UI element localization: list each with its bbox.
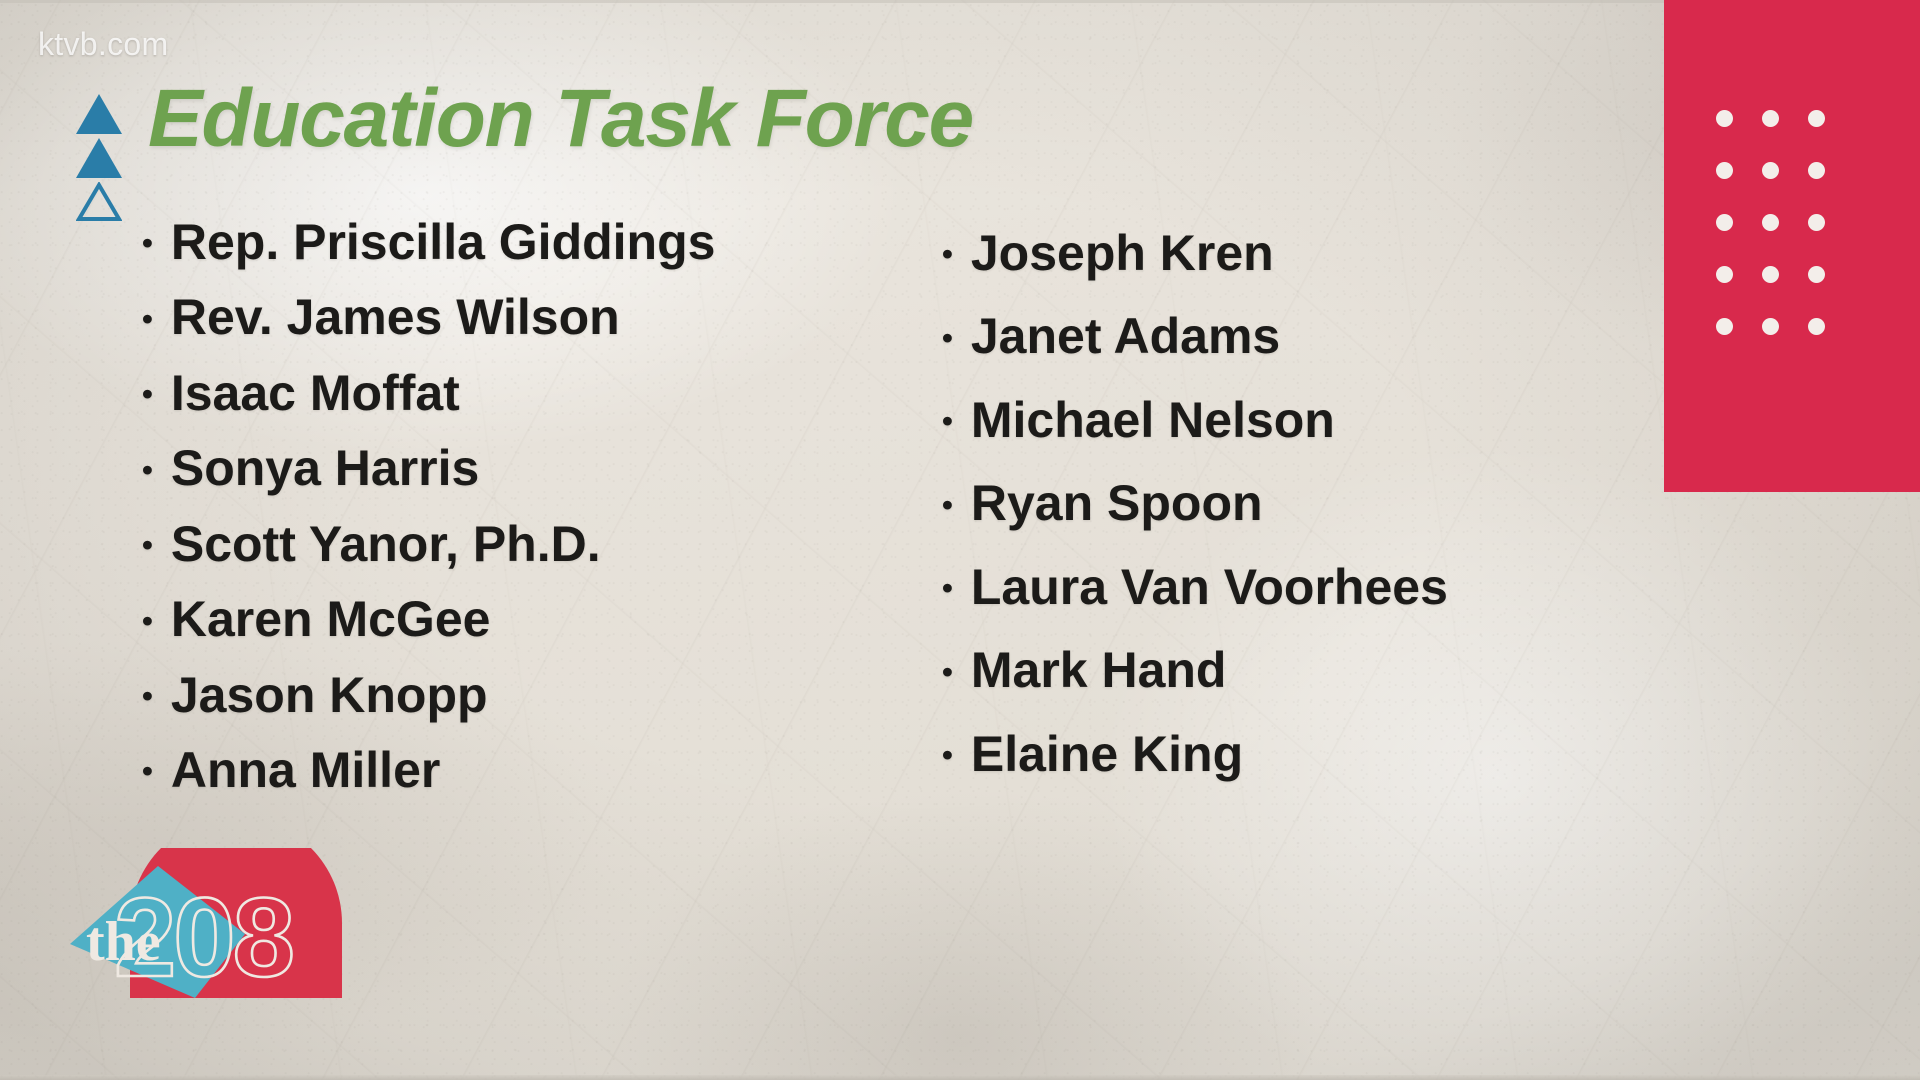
roster-left-column: Rep. Priscilla Giddings Rev. James Wilso…	[142, 205, 715, 808]
triangle-outline-bottom-icon	[76, 182, 122, 222]
red-accent-block	[1664, 0, 1920, 492]
list-item: Laura Van Voorhees	[942, 546, 1448, 629]
list-item: Janet Adams	[942, 295, 1448, 378]
grid-dot	[1808, 318, 1825, 335]
grid-dot	[1762, 214, 1779, 231]
the-208-logo: the 208	[60, 848, 360, 1028]
triangle-solid-top-icon	[76, 94, 122, 134]
grid-dot	[1808, 214, 1825, 231]
grid-dot	[1808, 110, 1825, 127]
roster-right-column: Joseph Kren Janet Adams Michael Nelson R…	[942, 212, 1448, 796]
broadcast-lower-third-slide: ktvb.com Education Task Force Rep. Prisc…	[0, 0, 1920, 1080]
grid-dot	[1762, 318, 1779, 335]
list-item: Mark Hand	[942, 629, 1448, 712]
top-edge-strip	[0, 0, 1920, 3]
list-item: Jason Knopp	[142, 658, 715, 733]
list-item: Isaac Moffat	[142, 356, 715, 431]
logo-208-text: 208	[114, 875, 292, 1000]
grid-dot	[1808, 266, 1825, 283]
list-item: Michael Nelson	[942, 379, 1448, 462]
grid-dot	[1716, 266, 1733, 283]
list-item: Anna Miller	[142, 733, 715, 808]
list-item: Ryan Spoon	[942, 462, 1448, 545]
triangle-decoration-group	[76, 94, 128, 222]
list-item: Elaine King	[942, 713, 1448, 796]
triangle-solid-middle-icon	[76, 138, 122, 178]
bottom-edge-strip	[0, 1075, 1920, 1080]
ktvb-watermark: ktvb.com	[38, 26, 168, 63]
list-item: Scott Yanor, Ph.D.	[142, 507, 715, 582]
list-item: Joseph Kren	[942, 212, 1448, 295]
list-item: Rev. James Wilson	[142, 280, 715, 355]
grid-dot	[1808, 162, 1825, 179]
grid-dot	[1716, 110, 1733, 127]
list-item: Karen McGee	[142, 582, 715, 657]
dot-grid-decoration	[1716, 110, 1854, 370]
page-title: Education Task Force	[148, 78, 973, 160]
grid-dot	[1762, 266, 1779, 283]
grid-dot	[1762, 110, 1779, 127]
list-item: Sonya Harris	[142, 431, 715, 506]
grid-dot	[1716, 318, 1733, 335]
grid-dot	[1762, 162, 1779, 179]
grid-dot	[1716, 162, 1733, 179]
list-item: Rep. Priscilla Giddings	[142, 205, 715, 280]
grid-dot	[1716, 214, 1733, 231]
